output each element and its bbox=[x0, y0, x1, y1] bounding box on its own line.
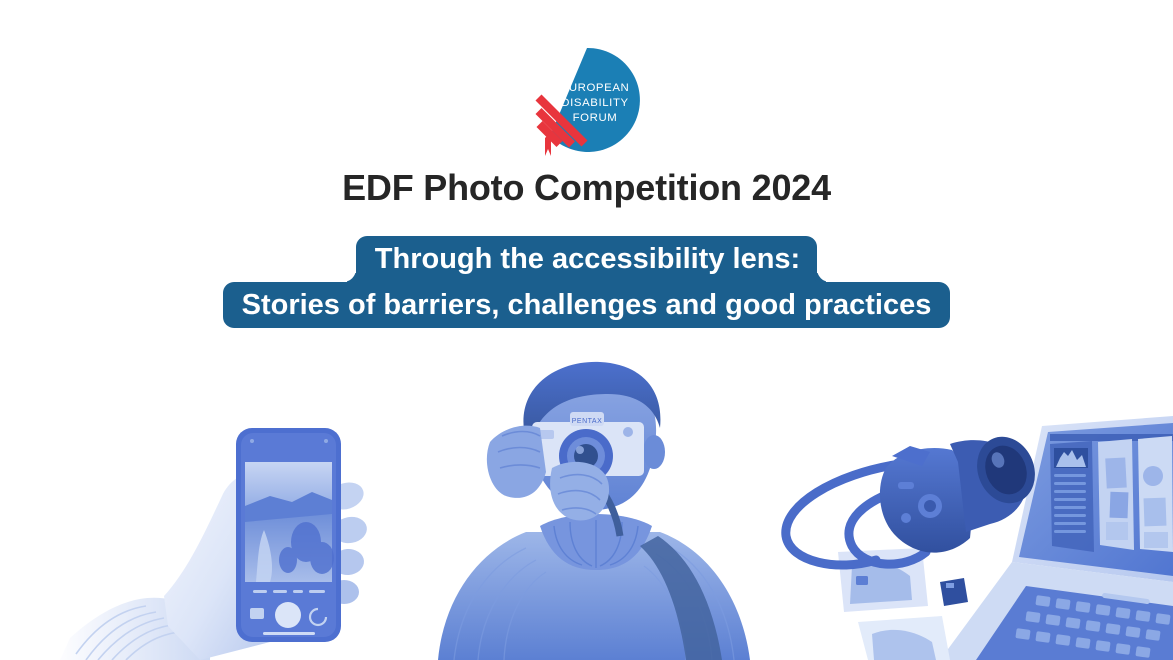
subtitle-line-1-wrap: Through the accessibility lens: bbox=[0, 236, 1173, 282]
logo-line-1: EUROPEAN bbox=[560, 82, 629, 94]
european-disability-forum-logo: EUROPEAN DISABILITY FORUM bbox=[527, 38, 647, 163]
logo-line-3: FORUM bbox=[572, 112, 617, 124]
page-title: EDF Photo Competition 2024 bbox=[0, 166, 1173, 210]
left-hand bbox=[487, 426, 546, 498]
lens-highlight bbox=[576, 446, 584, 454]
logo-line-2: DISABILITY bbox=[561, 97, 628, 109]
poster-canvas: EUROPEAN DISABILITY FORUM EDF Photo Comp… bbox=[0, 0, 1173, 660]
print-label bbox=[856, 576, 868, 585]
photographer-with-film-camera: PENTAX bbox=[420, 360, 770, 660]
subtitle-line-1: Through the accessibility lens: bbox=[356, 236, 817, 282]
subtitle-line-2-wrap: Stories of barriers, challenges and good… bbox=[0, 282, 1173, 328]
shutter-dial bbox=[623, 427, 633, 437]
home-indicator bbox=[263, 632, 315, 635]
dslr-camera-and-laptop bbox=[780, 410, 1173, 660]
subtitle-line-2: Stories of barriers, challenges and good… bbox=[223, 282, 951, 328]
sd-memory-card bbox=[940, 578, 968, 606]
logo-block: EUROPEAN DISABILITY FORUM bbox=[0, 38, 1173, 163]
ear bbox=[643, 435, 665, 469]
photo-strip: PENTAX bbox=[0, 360, 1173, 660]
gallery-thumbnail bbox=[250, 608, 264, 619]
front-camera-dot bbox=[250, 439, 254, 443]
camera-brand-label: PENTAX bbox=[572, 418, 603, 425]
hand-holding-smartphone-camera bbox=[60, 410, 405, 660]
sd-card-notch bbox=[946, 583, 954, 588]
sensor-dot bbox=[324, 439, 328, 443]
shutter-button bbox=[275, 602, 301, 628]
subtitle-banner: Through the accessibility lens: Stories … bbox=[0, 236, 1173, 328]
